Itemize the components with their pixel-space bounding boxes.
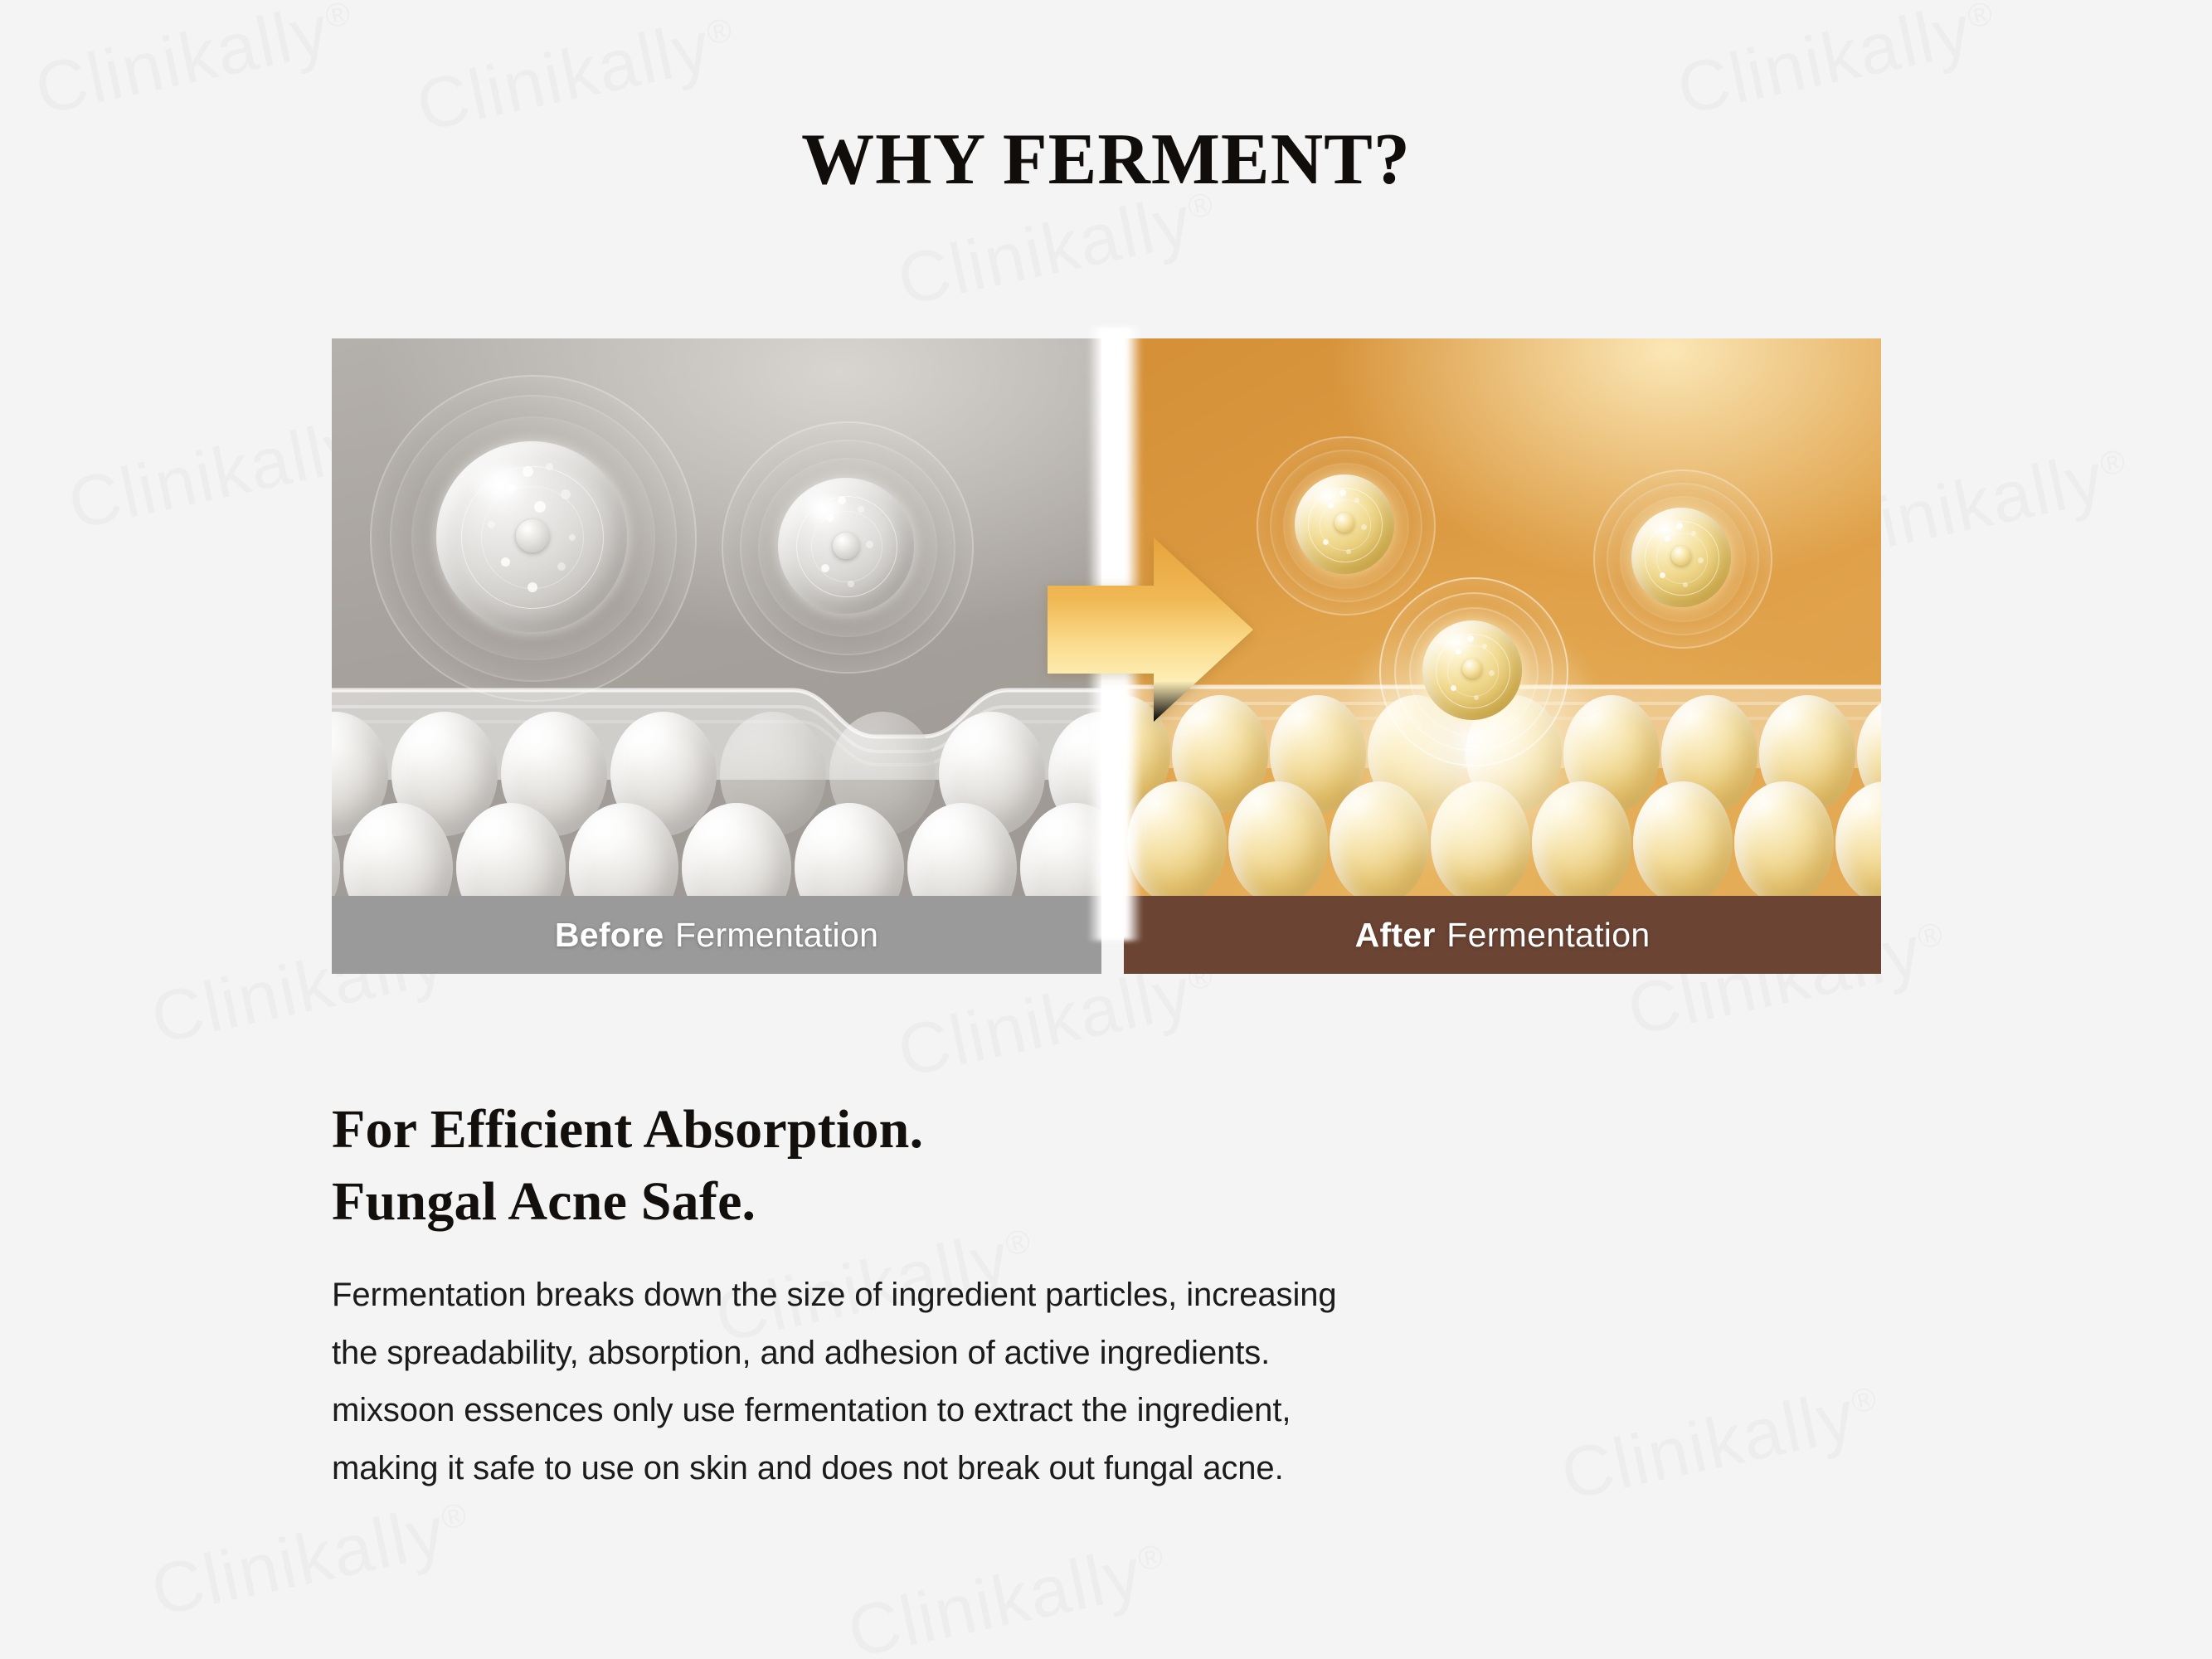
headline: For Efficient Absorption. Fungal Acne Sa… <box>332 1093 923 1238</box>
page-title: WHY FERMENT? <box>0 118 2212 202</box>
caption-before: Before Fermentation <box>332 896 1101 974</box>
headline-line-1: For Efficient Absorption. <box>332 1093 923 1165</box>
scene-before <box>332 338 1101 896</box>
body-line-4: making it safe to use on skin and does n… <box>332 1440 1337 1498</box>
transition-arrow <box>1048 534 1255 725</box>
watermark: Clinikally® <box>841 1526 1175 1659</box>
comparison-figure: Before Fermentation <box>332 338 1881 974</box>
caption-after-light: Fermentation <box>1446 916 1650 955</box>
body-line-1: Fermentation breaks down the size of ing… <box>332 1267 1337 1325</box>
caption-before-strong: Before <box>555 916 664 955</box>
watermark: Clinikally® <box>28 0 362 132</box>
caption-after: After Fermentation <box>1124 896 1881 974</box>
right-arrow-icon <box>1048 534 1255 725</box>
watermark: Clinikally® <box>144 1485 479 1632</box>
body-line-2: the spreadability, absorption, and adhes… <box>332 1325 1337 1383</box>
caption-after-strong: After <box>1355 916 1436 955</box>
watermark: Clinikally® <box>1554 1369 1889 1516</box>
watermark: Clinikally® <box>1670 0 2005 132</box>
pearl-row-gray-bottom <box>332 803 1101 896</box>
panel-before-fermentation: Before Fermentation <box>332 338 1101 974</box>
caption-before-light: Fermentation <box>675 916 878 955</box>
headline-line-2: Fungal Acne Safe. <box>332 1165 923 1238</box>
body-paragraph: Fermentation breaks down the size of ing… <box>332 1267 1337 1497</box>
body-line-3: mixsoon essences only use fermentation t… <box>332 1382 1337 1440</box>
